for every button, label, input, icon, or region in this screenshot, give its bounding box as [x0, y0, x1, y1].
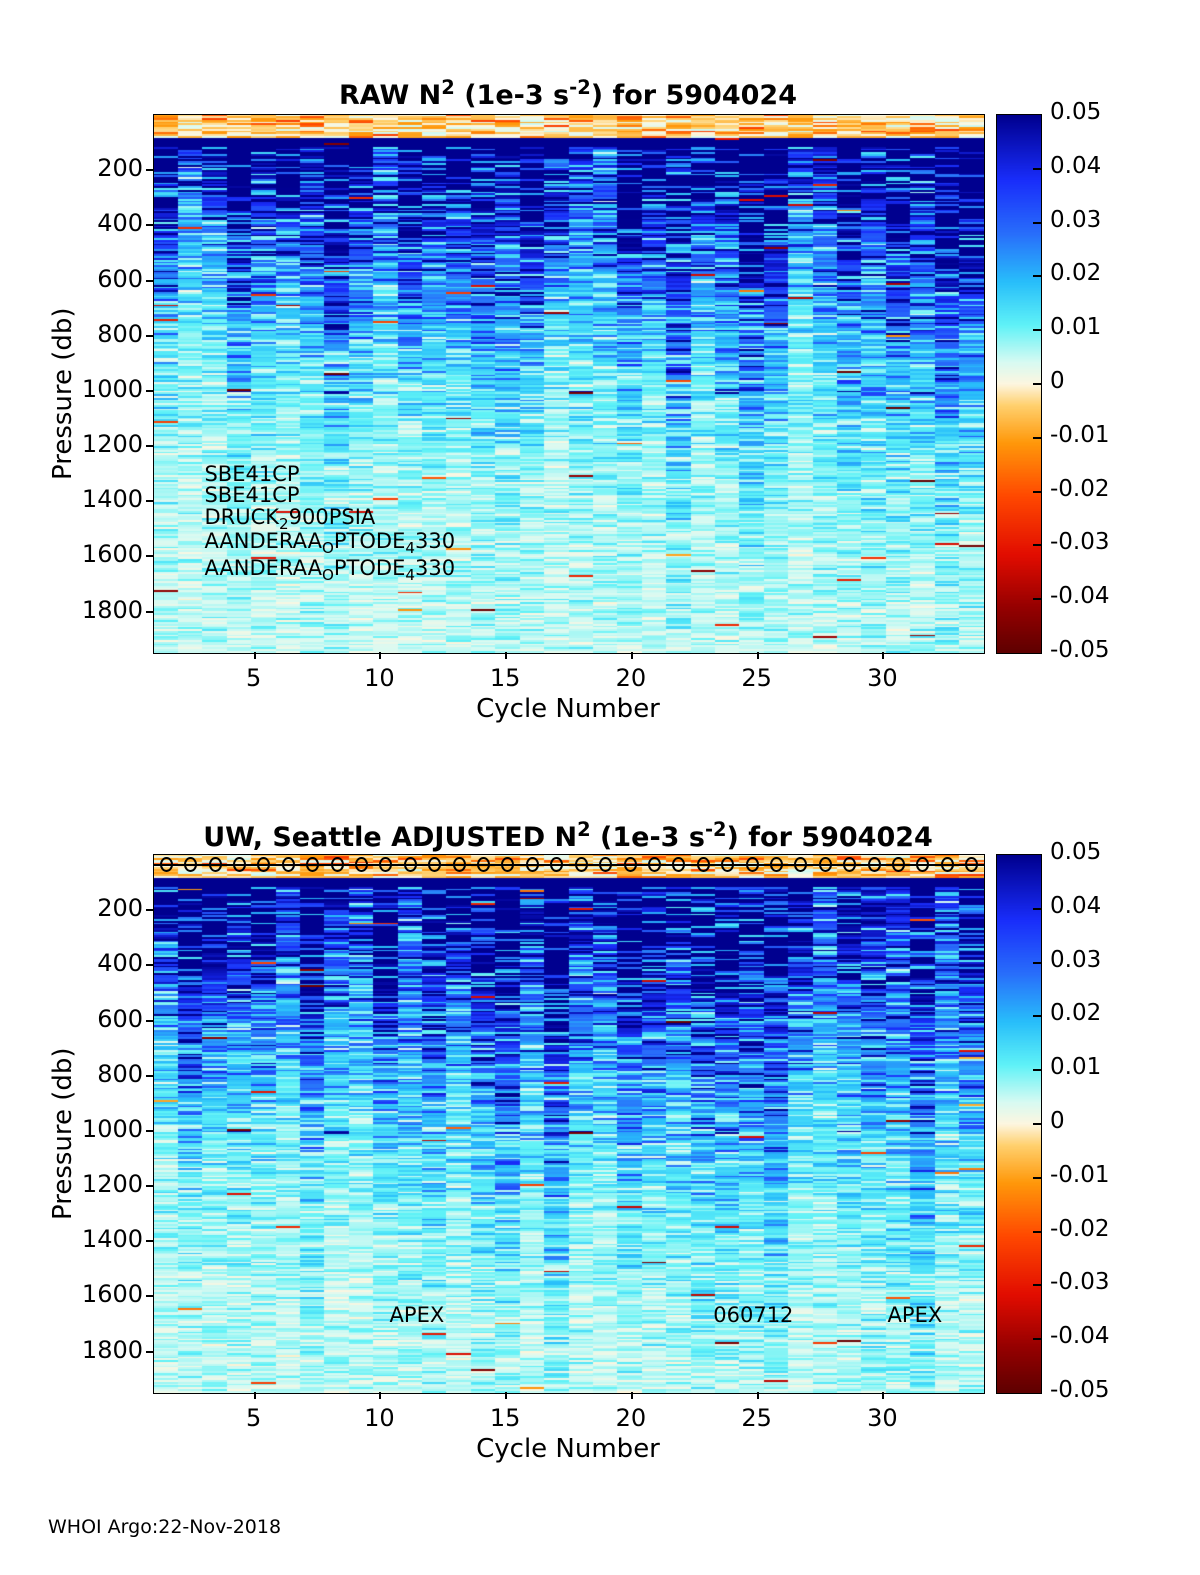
x-tick-label: 25	[717, 1404, 797, 1432]
y-tick-mark	[146, 1351, 153, 1353]
colorbar-tick-mark	[1033, 544, 1041, 546]
x-tick-mark	[505, 1392, 507, 1399]
y-tick-mark	[146, 1130, 153, 1132]
y-tick-mark	[146, 611, 153, 613]
colorbar-tick-label: -0.01	[1050, 1162, 1110, 1188]
colorbar-tick-mark	[1033, 383, 1041, 385]
y-tick-label: 1200	[45, 1170, 143, 1198]
title-superscript-neg2: -2	[569, 76, 591, 99]
y-tick-label: 200	[45, 894, 143, 922]
x-tick-label: 15	[465, 664, 545, 692]
colorbar-tick-label: 0	[1050, 1108, 1065, 1134]
colorbar-tick-mark	[1033, 1123, 1041, 1125]
title-units-prefix-adj: (1e-3 s	[591, 822, 705, 853]
y-tick-mark	[146, 500, 153, 502]
annotation-text: APEX	[888, 1303, 943, 1327]
colorbar-tick-mark	[1033, 1284, 1041, 1286]
colorbar-tick-mark	[1033, 168, 1041, 170]
x-tick-mark	[757, 652, 759, 659]
x-tick-label: 15	[465, 1404, 545, 1432]
annotation-subscript: 4	[405, 539, 415, 557]
x-axis-label-adjusted: Cycle Number	[353, 1434, 783, 1464]
annotation-text: 900PSIA	[289, 505, 376, 529]
y-tick-mark	[146, 1020, 153, 1022]
plot-annotation: SBE41CP	[204, 464, 299, 485]
colorbar-tick-mark	[1033, 329, 1041, 331]
colorbar-tick-label: 0.05	[1050, 99, 1101, 125]
y-tick-label: 1800	[45, 1336, 143, 1364]
heatmap-axes-adjusted[interactable]	[153, 854, 985, 1394]
annotation-text: AANDERAA	[204, 529, 322, 553]
x-tick-mark	[631, 1392, 633, 1399]
colorbar-tick-label: 0.04	[1050, 153, 1101, 179]
x-tick-mark	[631, 652, 633, 659]
colorbar-tick-mark	[1033, 491, 1041, 493]
annotation-text: AANDERAA	[204, 556, 322, 580]
colorbar-tick-label: -0.03	[1050, 1269, 1110, 1295]
colorbar-tick-label: 0.01	[1050, 314, 1101, 340]
y-tick-label: 400	[45, 209, 143, 237]
title-superscript-neg2-adj: -2	[705, 818, 727, 841]
x-tick-label: 30	[842, 1404, 922, 1432]
y-tick-mark	[146, 390, 153, 392]
annotation-text: DRUCK	[204, 505, 279, 529]
colorbar-tick-label: 0.04	[1050, 893, 1101, 919]
colorbar-tick-mark	[1033, 908, 1041, 910]
x-tick-label: 5	[214, 1404, 294, 1432]
colorbar-tick-mark	[1033, 437, 1041, 439]
plot-annotation: AANDERAAOPTODE4330	[204, 558, 455, 583]
colorbar-tick-label: -0.05	[1050, 1377, 1110, 1403]
title-superscript-2: 2	[441, 76, 455, 99]
y-tick-mark	[146, 555, 153, 557]
x-tick-label: 10	[339, 1404, 419, 1432]
y-tick-label: 1600	[45, 1280, 143, 1308]
title-units-prefix: (1e-3 s	[455, 80, 569, 111]
annotation-text: APEX	[390, 1303, 445, 1327]
colorbar-tick-mark	[1033, 1231, 1041, 1233]
y-tick-label: 1400	[45, 485, 143, 513]
y-tick-mark	[146, 169, 153, 171]
colorbar-tick-label: 0.02	[1050, 1000, 1101, 1026]
colorbar-tick-label: -0.04	[1050, 1323, 1110, 1349]
x-tick-label: 25	[717, 664, 797, 692]
colorbar-tick-label: 0.03	[1050, 947, 1101, 973]
y-tick-label: 1000	[45, 1115, 143, 1143]
colorbar-tick-label: 0.02	[1050, 260, 1101, 286]
y-tick-mark	[146, 1075, 153, 1077]
y-tick-label: 400	[45, 949, 143, 977]
x-tick-label: 30	[842, 664, 922, 692]
annotation-text: 060712	[713, 1303, 793, 1327]
y-tick-mark	[146, 335, 153, 337]
x-tick-mark	[379, 652, 381, 659]
annotation-subscript: O	[322, 566, 334, 584]
x-tick-label: 10	[339, 664, 419, 692]
y-tick-label: 1800	[45, 596, 143, 624]
x-tick-mark	[254, 1392, 256, 1399]
colorbar-tick-mark	[1033, 275, 1041, 277]
colorbar-tick-mark	[1033, 1338, 1041, 1340]
y-tick-label: 600	[45, 1005, 143, 1033]
x-tick-mark	[379, 1392, 381, 1399]
y-tick-mark	[146, 1240, 153, 1242]
annotation-subscript: O	[322, 539, 334, 557]
panel-raw-title: RAW N2 (1e-3 s-2) for 5904024	[153, 76, 983, 111]
title-text-raw: RAW N	[339, 80, 441, 111]
y-tick-mark	[146, 445, 153, 447]
plot-annotation: AANDERAAOPTODE4330	[204, 531, 455, 556]
colorbar-tick-label: 0.05	[1050, 839, 1101, 865]
y-tick-mark	[146, 280, 153, 282]
annotation-text: PTODE	[334, 556, 405, 580]
panel-adjusted-title: UW, Seattle ADJUSTED N2 (1e-3 s-2) for 5…	[153, 818, 983, 853]
x-tick-label: 20	[591, 664, 671, 692]
colorbar-tick-label: -0.01	[1050, 422, 1110, 448]
x-tick-mark	[882, 652, 884, 659]
y-tick-mark	[146, 964, 153, 966]
plot-annotation: APEX	[888, 1305, 943, 1326]
title-text-adjusted: UW, Seattle ADJUSTED N	[203, 822, 577, 853]
annotation-text: SBE41CP	[204, 483, 299, 507]
colorbar-tick-label: -0.02	[1050, 476, 1110, 502]
x-tick-label: 20	[591, 1404, 671, 1432]
x-tick-mark	[882, 1392, 884, 1399]
x-axis-label-raw: Cycle Number	[353, 694, 783, 724]
colorbar-tick-label: -0.05	[1050, 637, 1110, 663]
colorbar-tick-mark	[1033, 1015, 1041, 1017]
annotation-text: 330	[415, 556, 455, 580]
title-float-id: ) for 5904024	[591, 80, 797, 111]
annotation-subscript: 4	[405, 566, 415, 584]
annotation-text: 330	[415, 529, 455, 553]
y-tick-label: 200	[45, 154, 143, 182]
y-tick-label: 1200	[45, 430, 143, 458]
y-tick-label: 1600	[45, 540, 143, 568]
x-tick-mark	[757, 1392, 759, 1399]
colorbar-tick-label: 0.03	[1050, 207, 1101, 233]
figure-footer: WHOI Argo:22-Nov-2018	[48, 1516, 281, 1538]
colorbar-tick-label: -0.04	[1050, 583, 1110, 609]
y-tick-label: 800	[45, 1060, 143, 1088]
colorbar-tick-mark	[1033, 1069, 1041, 1071]
colorbar-tick-label: 0	[1050, 368, 1065, 394]
plot-annotation: SBE41CP	[204, 485, 299, 506]
plot-annotation: 060712	[713, 1305, 793, 1326]
y-tick-label: 600	[45, 265, 143, 293]
y-tick-mark	[146, 1185, 153, 1187]
colorbar-tick-mark	[1033, 598, 1041, 600]
y-tick-label: 1000	[45, 375, 143, 403]
title-superscript-2-adj: 2	[577, 818, 591, 841]
y-tick-label: 800	[45, 320, 143, 348]
colorbar-tick-mark	[1033, 1177, 1041, 1179]
colorbar-tick-label: -0.02	[1050, 1216, 1110, 1242]
y-tick-mark	[146, 224, 153, 226]
x-tick-mark	[505, 652, 507, 659]
plot-annotation: APEX	[390, 1305, 445, 1326]
y-tick-mark	[146, 1295, 153, 1297]
annotation-text: SBE41CP	[204, 462, 299, 486]
annotation-text: PTODE	[334, 529, 405, 553]
title-float-id-adj: ) for 5904024	[727, 822, 933, 853]
colorbar-tick-mark	[1033, 222, 1041, 224]
x-tick-label: 5	[214, 664, 294, 692]
colorbar-tick-mark	[1033, 962, 1041, 964]
y-tick-mark	[146, 909, 153, 911]
colorbar-tick-label: -0.03	[1050, 529, 1110, 555]
colorbar-tick-label: 0.01	[1050, 1054, 1101, 1080]
heatmap-adjusted	[154, 855, 984, 1393]
x-tick-mark	[254, 652, 256, 659]
y-tick-label: 1400	[45, 1225, 143, 1253]
